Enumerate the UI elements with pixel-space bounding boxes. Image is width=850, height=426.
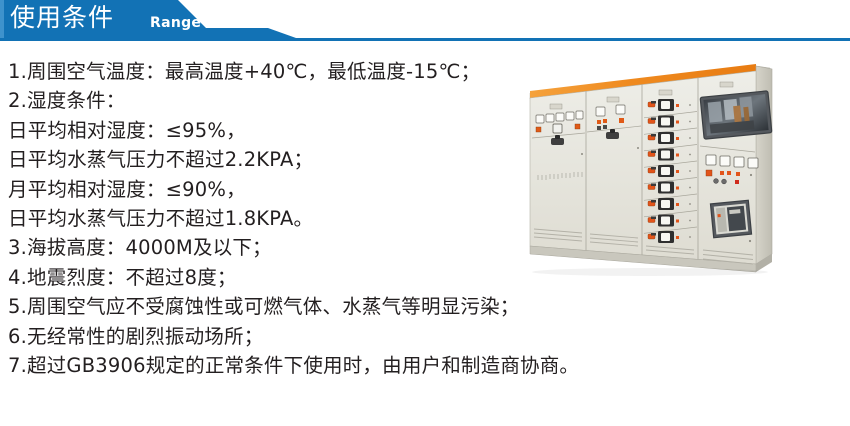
panel-1-nameplate	[550, 104, 562, 109]
panel-4-nameplate	[720, 82, 733, 87]
panel-2-nameplate	[607, 97, 619, 102]
panel-1-door-lock	[581, 153, 583, 155]
panel-1-indicator-lamp-left	[536, 127, 541, 132]
circuit-breaker-viewing-window	[700, 91, 772, 139]
panel-2-meter-right	[616, 105, 625, 114]
section-header: 使用条件 Range	[0, 0, 850, 42]
ground-shadow	[532, 268, 768, 276]
condition-line: 7.超过GB3906规定的正常条件下使用时，由用户和制造商协商。	[8, 351, 648, 380]
header-underline-rule	[0, 38, 850, 41]
panel-4-door-lock-upper	[750, 174, 752, 176]
panel-2-meter-left	[596, 107, 605, 116]
page-subtitle: Range	[150, 15, 201, 31]
panel-1-selector-display	[553, 124, 562, 133]
switchgear-illustration	[520, 58, 850, 298]
panel-1-indicator-lamp-right	[575, 124, 580, 129]
header-left-accent-edge	[0, 0, 4, 38]
panel-3-nameplate	[659, 90, 672, 95]
panel-4-door-lock-lower	[749, 240, 751, 242]
panel-2-door-lock	[637, 147, 639, 149]
breaker-inspection-window	[710, 200, 751, 237]
switchgear-cabinet-image	[520, 58, 850, 298]
page-title: 使用条件	[10, 1, 114, 34]
usage-conditions-page: 使用条件 Range 1.周围空气温度：最高温度+40℃，最低温度-15℃； 2…	[0, 0, 850, 426]
condition-line: 6.无经常性的剧烈振动场所；	[8, 322, 648, 351]
